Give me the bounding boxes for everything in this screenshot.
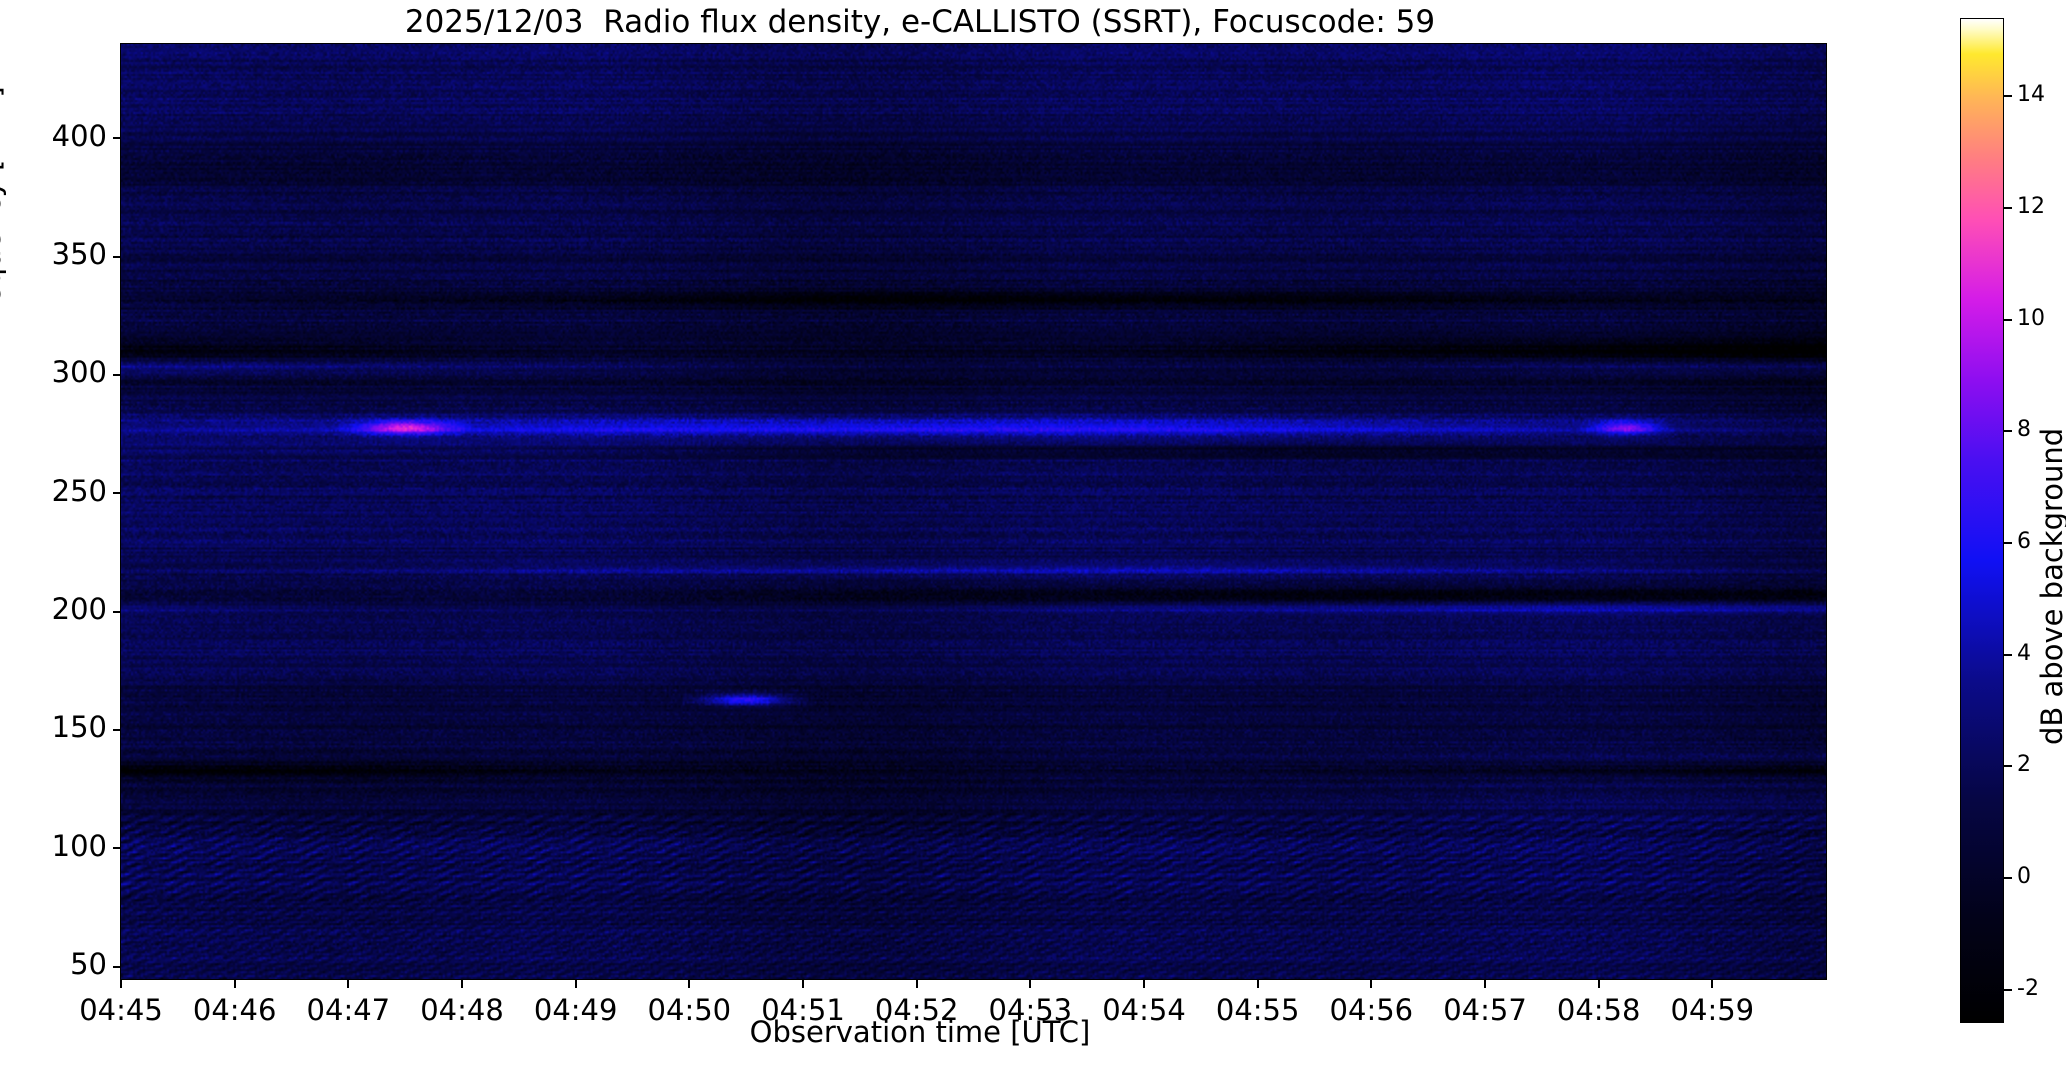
colorbar-tick-label: 2 (2017, 752, 2031, 777)
y-tick-label: 150 (52, 710, 107, 744)
y-tick-mark (113, 374, 121, 376)
figure-root: 2025/12/03 Radio flux density, e-CALLIST… (0, 0, 2066, 1067)
colorbar-tick-mark (2004, 765, 2012, 767)
x-tick-mark (461, 980, 463, 988)
colorbar-tick-label: 4 (2017, 641, 2031, 666)
colorbar-tick-mark (2004, 542, 2012, 544)
y-tick-label: 300 (52, 355, 107, 389)
y-tick-label: 100 (52, 829, 107, 863)
x-tick-mark (575, 980, 577, 988)
colorbar-tick-label: 8 (2017, 417, 2031, 442)
x-tick-mark (1370, 980, 1372, 988)
x-tick-mark (802, 980, 804, 988)
y-tick-mark (113, 847, 121, 849)
colorbar-tick-mark (2004, 654, 2012, 656)
colorbar-tick-label: -2 (2017, 976, 2039, 1001)
colorbar-tick-mark (2004, 430, 2012, 432)
x-tick-mark (347, 980, 349, 988)
colorbar-gradient (1960, 18, 2004, 1023)
x-tick-mark (1484, 980, 1486, 988)
x-tick-mark (688, 980, 690, 988)
colorbar-tick-mark (2004, 877, 2012, 879)
y-tick-label: 200 (52, 592, 107, 626)
x-tick-mark (1598, 980, 1600, 988)
y-tick-mark (113, 966, 121, 968)
colorbar-tick-mark (2004, 319, 2012, 321)
colorbar-tick-label: 14 (2017, 82, 2045, 107)
colorbar-tick-mark (2004, 207, 2012, 209)
y-tick-mark (113, 256, 121, 258)
colorbar-tick-label: 6 (2017, 529, 2031, 554)
x-tick-mark (916, 980, 918, 988)
y-tick-label: 250 (52, 474, 107, 508)
x-tick-mark (1257, 980, 1259, 988)
x-tick-mark (1711, 980, 1713, 988)
x-tick-mark (1029, 980, 1031, 988)
y-tick-mark (113, 492, 121, 494)
colorbar-tick-label: 10 (2017, 306, 2045, 331)
y-tick-label: 400 (52, 119, 107, 153)
y-tick-mark (113, 611, 121, 613)
page-title: 2025/12/03 Radio flux density, e-CALLIST… (0, 4, 1840, 40)
y-axis-label: Frequency [MHz] (0, 86, 7, 330)
colorbar-tick-mark (2004, 95, 2012, 97)
y-tick-mark (113, 729, 121, 731)
x-tick-mark (1143, 980, 1145, 988)
colorbar-tick-label: 0 (2017, 864, 2031, 889)
y-tick-mark (113, 137, 121, 139)
colorbar-tick-mark (2004, 989, 2012, 991)
x-axis-label: Observation time [UTC] (0, 1015, 1840, 1049)
y-tick-label: 50 (70, 947, 107, 981)
y-tick-label: 350 (52, 237, 107, 271)
colorbar[interactable]: -202468101214 (1960, 18, 2004, 1023)
x-tick-mark (234, 980, 236, 988)
colorbar-tick-label: 12 (2017, 194, 2045, 219)
spectrogram-image (121, 44, 1826, 979)
x-tick-mark (120, 980, 122, 988)
spectrogram-axes[interactable]: 40035030025020015010050 04:4504:4604:470… (120, 43, 1827, 980)
colorbar-label: dB above background (2035, 428, 2066, 745)
